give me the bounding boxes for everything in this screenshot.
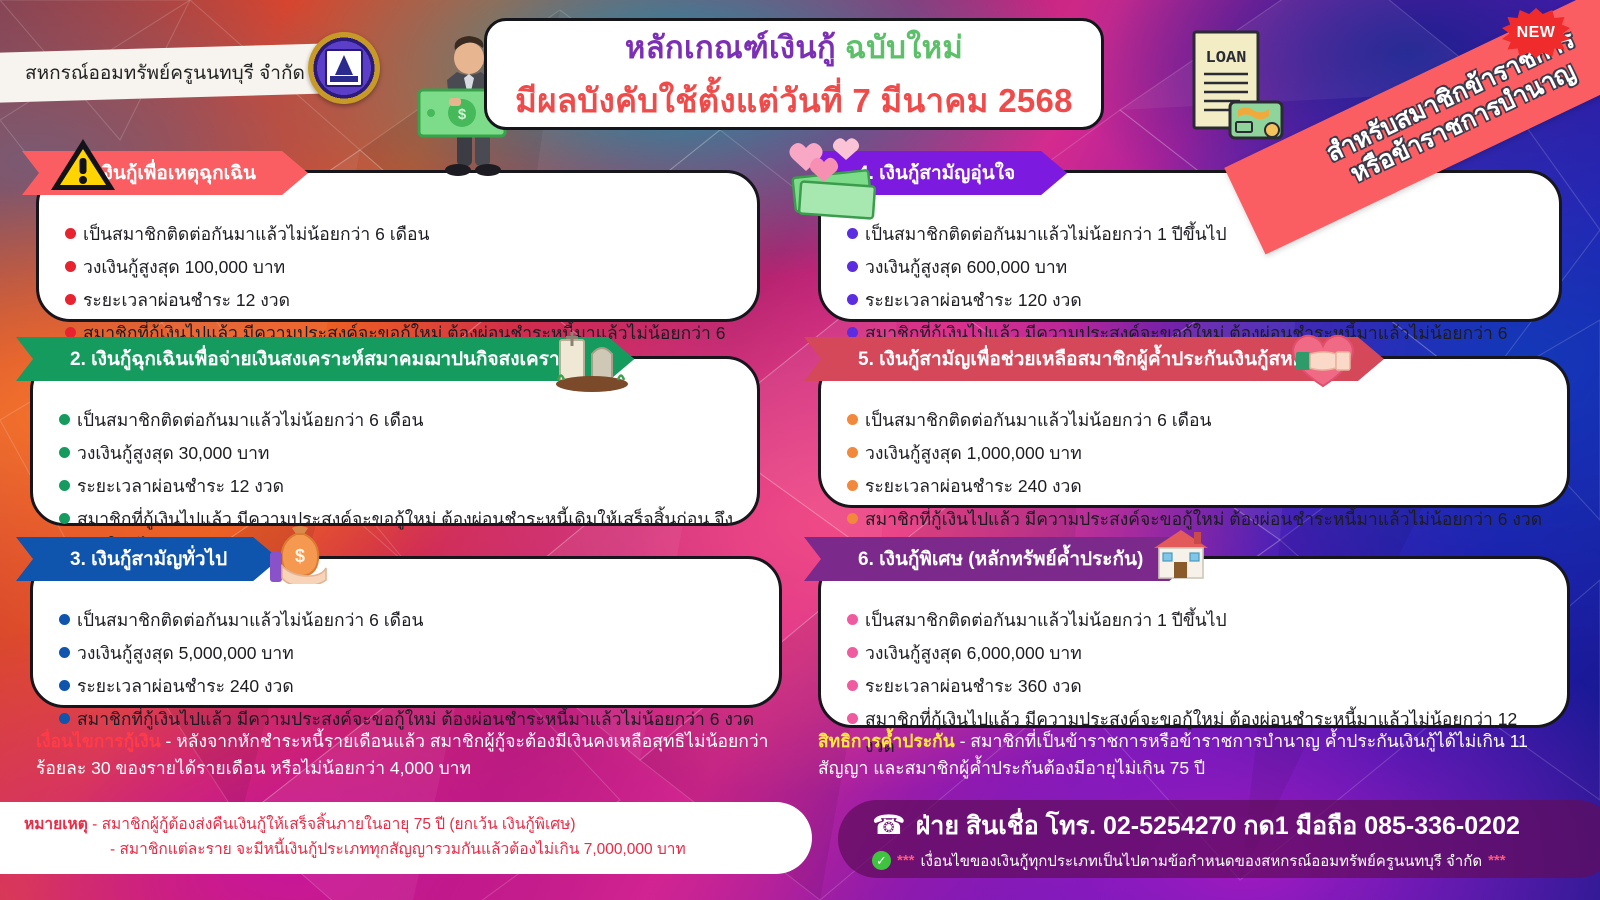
list-item: วงเงินกู้สูงสุด 6,000,000 บาท [847,636,1545,669]
list-item: เป็นสมาชิกติดต่อกันมาแล้วไม่น้อยกว่า 1 ป… [847,603,1545,636]
bullet-dot [65,228,76,239]
loan-card-4: 4. เงินกู้สามัญอุ่นใจ เป็นสมาชิกติดต่อกั… [818,170,1562,322]
contact-box: ☎ ฝ่าย สินเชื่อ โทร. 02-5254270 กด1 มือถ… [838,800,1600,878]
list-item: วงเงินกู้สูงสุด 5,000,000 บาท [59,636,757,669]
bullet-text: เป็นสมาชิกติดต่อกันมาแล้วไม่น้อยกว่า 6 เ… [77,607,757,633]
title-line-2: มีผลบังคับใช้ตั้งแต่วันที่ 7 มีนาคม 2568 [515,74,1073,127]
bullet-text: ระยะเวลาผ่อนชำระ 360 งวด [865,673,1545,699]
new-badge-label: NEW [1517,24,1556,42]
bullet-dot [847,513,858,524]
title-green-part: ฉบับใหม่ [845,30,963,65]
bullet-dot [847,414,858,425]
footnote-box: หมายเหตุ - สมาชิกผู้กู้ต้องส่งคืนเงินกู้… [0,802,812,874]
footnote-label: หมายเหตุ [24,816,88,833]
bullet-dot [847,228,858,239]
bullet-text: เป็นสมาชิกติดต่อกันมาแล้วไม่น้อยกว่า 1 ป… [865,221,1537,247]
loan-card-5-bullets: เป็นสมาชิกติดต่อกันมาแล้วไม่น้อยกว่า 6 เ… [847,403,1545,536]
bullet-dot [847,614,858,625]
list-item: ระยะเวลาผ่อนชำระ 12 งวด [59,470,735,503]
contact-disclaimer-line: ✓ *** เงื่อนไขของเงินกู้ทุกประเภทเป็นไปต… [872,849,1596,873]
title-purple-part: หลักเกณฑ์เงินกู้ [625,30,836,65]
bullet-dot [65,261,76,272]
loan-card-2-header: 2. เงินกู้ฉุกเฉินเพื่อจ่ายเงินสงเคราะห์ส… [16,337,634,381]
bullet-dot [847,480,858,491]
list-item: เป็นสมาชิกติดต่อกันมาแล้วไม่น้อยกว่า 6 เ… [59,403,735,436]
bullet-text: เป็นสมาชิกติดต่อกันมาแล้วไม่น้อยกว่า 6 เ… [83,221,735,247]
footnote-line-1: หมายเหตุ - สมาชิกผู้กู้ต้องส่งคืนเงินกู้… [24,813,784,838]
cooperative-seal-icon [308,32,380,104]
loan-card-6: 6. เงินกู้พิเศษ (หลักทรัพย์ค้ำประกัน) เป… [818,556,1570,728]
contact-phone-text: ฝ่าย สินเชื่อ โทร. 02-5254270 กด1 มือถือ… [916,806,1520,846]
list-item: เป็นสมาชิกติดต่อกันมาแล้วไม่น้อยกว่า 6 เ… [847,403,1545,436]
list-item: ระยะเวลาผ่อนชำระ 12 งวด [65,284,735,317]
stars-left: *** [897,852,915,869]
bullet-dot [59,647,70,658]
list-item: เป็นสมาชิกติดต่อกันมาแล้วไม่น้อยกว่า 6 เ… [59,603,757,636]
bullet-dot [65,327,76,338]
bullet-text: วงเงินกู้สูงสุด 5,000,000 บาท [77,640,757,666]
loan-card-6-header: 6. เงินกู้พิเศษ (หลักทรัพย์ค้ำประกัน) [804,537,1195,581]
list-item: ระยะเวลาผ่อนชำระ 120 งวด [847,284,1537,317]
list-item: วงเงินกู้สูงสุด 100,000 บาท [65,250,735,283]
loan-card-4-title: 4. เงินกู้สามัญอุ่นใจ [804,158,1015,188]
bullet-dot [847,713,858,724]
list-item: วงเงินกู้สูงสุด 30,000 บาท [59,436,735,469]
loan-card-6-title: 6. เงินกู้พิเศษ (หลักทรัพย์ค้ำประกัน) [804,544,1143,574]
loan-card-1-title: 1. เงินกู้เพื่อเหตุฉุกเฉิน [22,158,256,188]
new-badge: NEW [1502,8,1570,58]
bullet-text: วงเงินกู้สูงสุด 600,000 บาท [865,254,1537,280]
stars-right: *** [1488,852,1506,869]
bullet-text: เป็นสมาชิกติดต่อกันมาแล้วไม่น้อยกว่า 6 เ… [77,407,735,433]
footnote-line-2: - สมาชิกแต่ละราย จะมีหนี้เงินกู้ประเภททุ… [24,838,784,863]
organization-name: สหกรณ์ออมทรัพย์ครูนนทบุรี จำกัด [25,58,305,88]
list-item: ระยะเวลาผ่อนชำระ 240 งวด [59,670,757,703]
bullet-text: ระยะเวลาผ่อนชำระ 240 งวด [865,473,1545,499]
bullet-dot [59,614,70,625]
loan-card-3: 3. เงินกู้สามัญทั่วไป เป็นสมาชิกติดต่อกั… [30,556,782,708]
loan-card-3-bullets: เป็นสมาชิกติดต่อกันมาแล้วไม่น้อยกว่า 6 เ… [59,603,757,736]
loan-card-5-title: 5. เงินกู้สามัญเพื่อช่วยเหลือสมาชิกผู้ค้… [804,344,1332,374]
bullet-dot [59,713,70,724]
phone-icon: ☎ [872,812,906,839]
bullet-text: สมาชิกที่กู้เงินไปแล้ว มีความประสงค์จะขอ… [865,506,1545,532]
list-item: วงเงินกู้สูงสุด 1,000,000 บาท [847,436,1545,469]
bullet-text: วงเงินกู้สูงสุด 1,000,000 บาท [865,440,1545,466]
guarantee-rights-label: สิทธิการค้ำประกัน [818,731,955,751]
bullet-dot [59,680,70,691]
loan-card-2-title: 2. เงินกู้ฉุกเฉินเพื่อจ่ายเงินสงเคราะห์ส… [16,344,582,374]
loan-card-1-header: 1. เงินกู้เพื่อเหตุฉุกเฉิน [22,151,308,195]
bullet-text: ระยะเวลาผ่อนชำระ 120 งวด [865,287,1537,313]
bullet-dot [65,294,76,305]
guarantee-rights-right: สิทธิการค้ำประกัน - สมาชิกที่เป็นข้าราชก… [818,728,1578,790]
list-item: สมาชิกที่กู้เงินไปแล้ว มีความประสงค์จะขอ… [847,503,1545,536]
list-item: ระยะเวลาผ่อนชำระ 360 งวด [847,670,1545,703]
bullet-dot [847,680,858,691]
check-circle-icon: ✓ [872,851,891,870]
footnote-line-1-text: - สมาชิกผู้กู้ต้องส่งคืนเงินกู้ให้เสร็จส… [88,816,576,833]
list-item: เป็นสมาชิกติดต่อกันมาแล้วไม่น้อยกว่า 1 ป… [847,217,1537,250]
contact-disclaimer-text: เงื่อนไขของเงินกู้ทุกประเภทเป็นไปตามข้อก… [921,849,1483,873]
loan-card-3-title: 3. เงินกู้สามัญทั่วไป [16,544,227,574]
bullet-dot [59,414,70,425]
loan-card-4-header: 4. เงินกู้สามัญอุ่นใจ [804,151,1067,195]
title-banner: หลักเกณฑ์เงินกู้ ฉบับใหม่ มีผลบังคับใช้ต… [484,18,1104,130]
loan-card-5-header: 5. เงินกู้สามัญเพื่อช่วยเหลือสมาชิกผู้ค้… [804,337,1384,381]
bullet-dot [59,480,70,491]
bullet-text: ระยะเวลาผ่อนชำระ 12 งวด [77,473,735,499]
bullet-text: ระยะเวลาผ่อนชำระ 12 งวด [83,287,735,313]
bullet-dot [847,447,858,458]
loan-conditions-label: เงื่อนไขการกู้เงิน [36,731,161,751]
loan-card-5: 5. เงินกู้สามัญเพื่อช่วยเหลือสมาชิกผู้ค้… [818,356,1570,508]
bullet-dot [847,327,858,338]
bullet-dot [847,261,858,272]
bullet-text: ระยะเวลาผ่อนชำระ 240 งวด [77,673,757,699]
loan-card-2: 2. เงินกู้ฉุกเฉินเพื่อจ่ายเงินสงเคราะห์ส… [30,356,760,526]
loan-card-1: 1. เงินกู้เพื่อเหตุฉุกเฉิน เป็นสมาชิกติด… [36,170,760,322]
bullet-text: วงเงินกู้สูงสุด 6,000,000 บาท [865,640,1545,666]
title-line-1: หลักเกณฑ์เงินกู้ ฉบับใหม่ [625,22,963,72]
list-item: วงเงินกู้สูงสุด 600,000 บาท [847,250,1537,283]
contact-phone-line: ☎ ฝ่าย สินเชื่อ โทร. 02-5254270 กด1 มือถ… [872,806,1596,846]
bullet-text: เป็นสมาชิกติดต่อกันมาแล้วไม่น้อยกว่า 1 ป… [865,607,1545,633]
list-item: เป็นสมาชิกติดต่อกันมาแล้วไม่น้อยกว่า 6 เ… [65,217,735,250]
bullet-dot [59,513,70,524]
seal-emblem [325,49,363,87]
bullet-text: วงเงินกู้สูงสุด 30,000 บาท [77,440,735,466]
bullet-dot [847,647,858,658]
bullet-dot [847,294,858,305]
bullet-text: เป็นสมาชิกติดต่อกันมาแล้วไม่น้อยกว่า 6 เ… [865,407,1545,433]
organization-name-bar: สหกรณ์ออมทรัพย์ครูนนทบุรี จำกัด [0,43,330,102]
list-item: ระยะเวลาผ่อนชำระ 240 งวด [847,470,1545,503]
bullet-text: วงเงินกู้สูงสุด 100,000 บาท [83,254,735,280]
loan-conditions-left: เงื่อนไขการกู้เงิน - หลังจากหักชำระหนี้ร… [36,728,776,790]
loan-card-3-header: 3. เงินกู้สามัญทั่วไป [16,537,279,581]
bullet-dot [59,447,70,458]
